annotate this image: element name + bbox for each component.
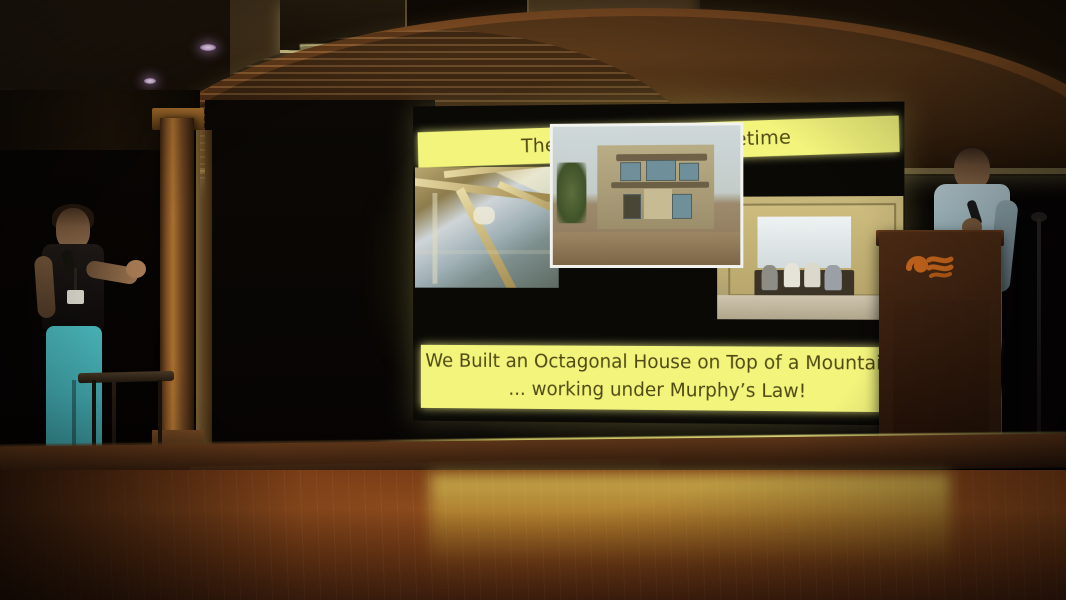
- rafter: [444, 167, 559, 179]
- downlight-icon: [200, 44, 216, 51]
- seated-person: [825, 265, 842, 290]
- ledger-board: [415, 250, 559, 254]
- wooden-pilaster: [160, 118, 194, 470]
- microphone-stand-right: [1037, 218, 1041, 458]
- downlight-icon: [144, 78, 156, 84]
- screen-reflection-on-floor: [430, 474, 950, 594]
- slide-caption-line1: We Built an Octagonal House on Top of a …: [421, 347, 898, 379]
- seated-person: [761, 265, 778, 290]
- window: [621, 162, 642, 181]
- photo-octagonal-house: [550, 122, 743, 268]
- interior-window: [758, 216, 851, 268]
- tree: [557, 163, 587, 224]
- window: [672, 194, 693, 219]
- window: [679, 163, 700, 181]
- door: [623, 194, 641, 219]
- right-hand: [126, 260, 146, 278]
- seated-person: [784, 263, 801, 288]
- slide-caption-line2: ... working under Murphy’s Law!: [421, 375, 898, 407]
- floor-shadow-left: [0, 470, 300, 600]
- slide-caption: We Built an Octagonal House on Top of a …: [421, 345, 898, 412]
- seated-person: [804, 263, 821, 288]
- photo-family-on-porch: [717, 196, 903, 320]
- stage-presentation-scene: The Adventure of a Lifetime: [0, 0, 1066, 600]
- post: [432, 193, 437, 284]
- projection-screen: The Adventure of a Lifetime: [413, 102, 904, 426]
- diagonal-brace: [456, 187, 523, 288]
- conference-badge: [67, 290, 84, 304]
- lower-eave: [611, 182, 709, 188]
- dirt-ground: [553, 231, 741, 265]
- photo-construction-framing: [415, 167, 559, 288]
- window: [646, 160, 676, 181]
- slide: The Adventure of a Lifetime: [413, 102, 904, 426]
- octagonal-house: [597, 145, 713, 229]
- pilaster-trim: [196, 130, 212, 460]
- worker: [473, 207, 495, 225]
- porch-floor: [717, 295, 903, 320]
- lanyard: [74, 268, 77, 292]
- entry-panel: [644, 189, 672, 219]
- wave-logo-icon: [905, 250, 967, 282]
